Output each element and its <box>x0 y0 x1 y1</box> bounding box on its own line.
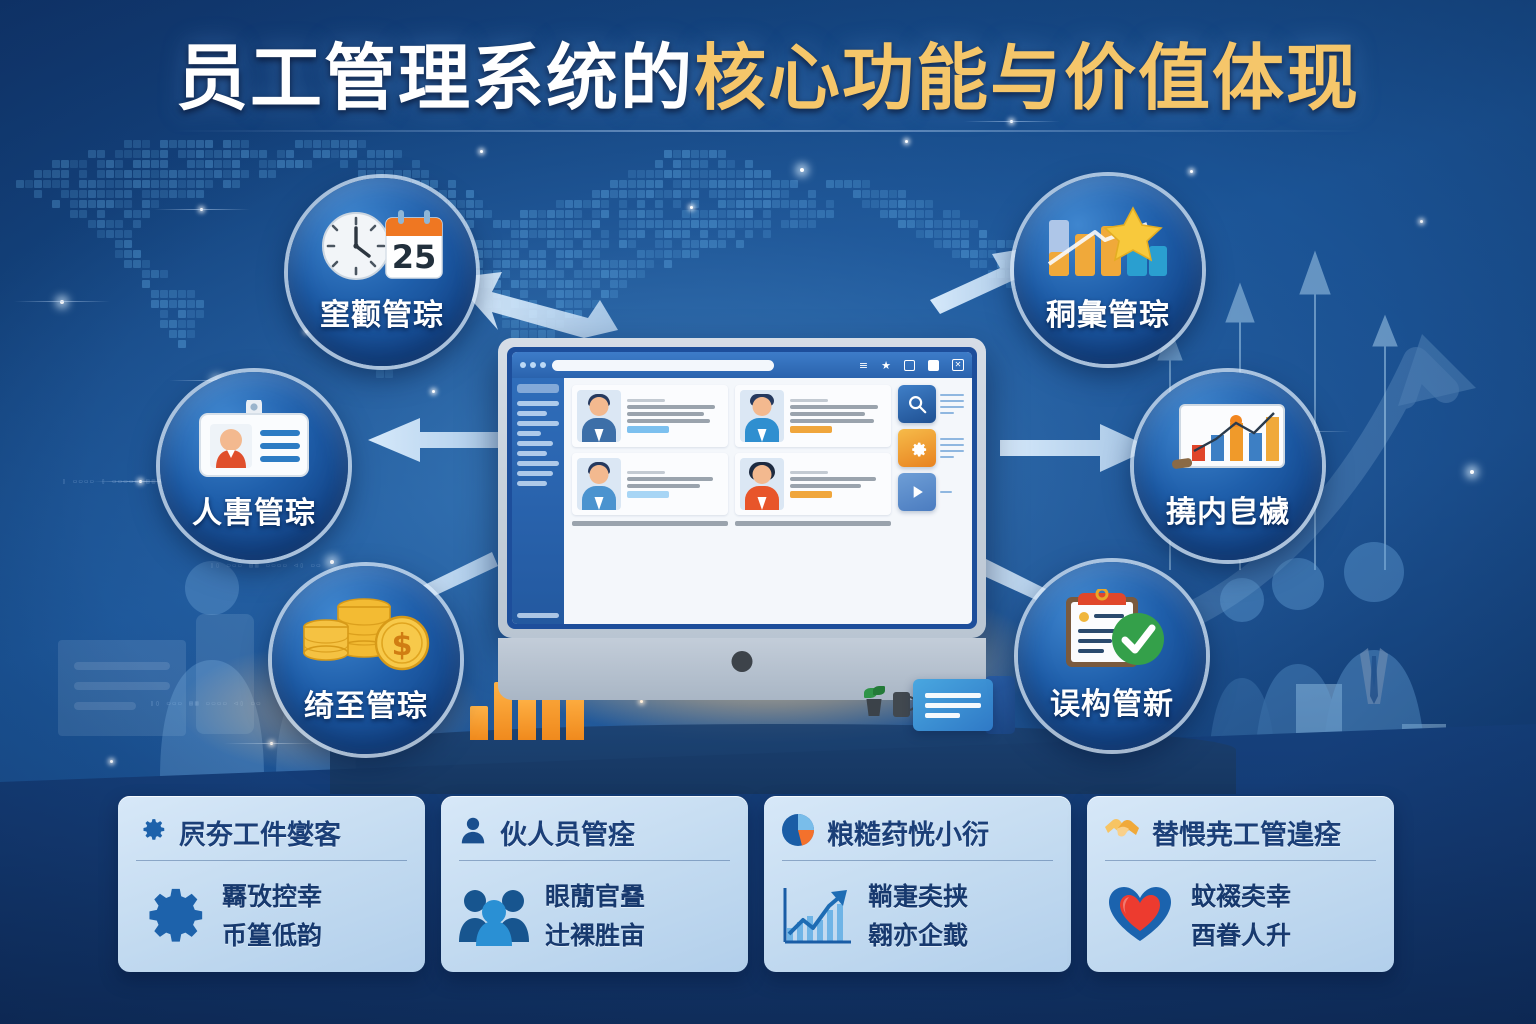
feature-card-title: 粮糙荮恍小衍 <box>827 813 989 852</box>
avatar <box>577 458 621 510</box>
feature-card-line: 蚊裰㚐幸 <box>1191 877 1291 913</box>
circle-label: 绮至管琮 <box>304 681 428 725</box>
table-row[interactable] <box>735 453 891 515</box>
monitor-mockup: ≡ ★ ✕ <box>498 338 986 700</box>
feature-card-title: 替愄尭工管遑痊 <box>1152 813 1341 852</box>
pie-chart-icon <box>780 812 816 852</box>
person-icon <box>457 814 489 850</box>
app-content <box>564 378 972 624</box>
feature-card-title: 屄夯工件燮客 <box>179 813 341 852</box>
clock-calendar-icon: 25 <box>316 210 448 284</box>
blue-note-card <box>913 679 993 731</box>
clipboard-check-icon <box>1054 589 1170 673</box>
sidebar-item[interactable] <box>517 411 547 416</box>
gear-large-icon <box>134 881 208 949</box>
feature-card-line: 翱亦企韯 <box>868 916 968 952</box>
feature-card-personnel-management[interactable]: 伙人员管痊 <box>441 796 748 972</box>
circle-badge-attendance[interactable]: 25 窐颧管琮 <box>288 178 476 366</box>
sidebar-header-placeholder <box>517 384 559 393</box>
bar-chart-star-icon <box>1045 206 1171 284</box>
feature-card-title: 伙人员管痊 <box>500 813 635 852</box>
infographic-canvas: ▯ ▭▭▭▭ ▯ ▭▭▭▭▭ ▤▤▥ ◁▯▯▯ ▭▭▭ ▤▥ ▭▭▭▭ ◁▯ ▭… <box>0 0 1536 1024</box>
feature-card-optimize-workflow[interactable]: 屄夯工件燮客 覉攷控幸 币篁低韵 <box>118 796 425 972</box>
avatar <box>577 390 621 442</box>
feature-card-line: 鞝寁㚐挟 <box>868 877 968 913</box>
table-row[interactable] <box>572 453 728 515</box>
divider <box>459 860 730 861</box>
monitor-bezel: ≡ ★ ✕ <box>498 338 986 638</box>
avatar <box>740 458 784 510</box>
circle-label: 窐颧管琮 <box>320 290 444 334</box>
divider <box>136 860 407 861</box>
chart-board-icon <box>1166 401 1290 481</box>
employee-card-grid <box>572 385 891 617</box>
page-title: 员工管理系统的核心功能与价值体现 <box>0 42 1536 114</box>
menu-lines-icon[interactable]: ≡ <box>859 360 868 371</box>
sidebar-item[interactable] <box>517 431 541 436</box>
app-toolbar: ≡ ★ ✕ <box>859 359 964 371</box>
calendar-day-number: 25 <box>392 238 437 276</box>
avatar <box>740 390 784 442</box>
square-x-icon[interactable]: ✕ <box>952 359 964 371</box>
content-footer <box>572 521 891 526</box>
gear-icon <box>134 813 168 851</box>
dark-mug <box>893 692 910 717</box>
page-title-gold: 核心功能与价值体现 <box>694 36 1360 120</box>
feature-card-line: 辻裸胜亩 <box>545 916 645 952</box>
circle-badge-workflow[interactable]: 误构管新 <box>1018 562 1206 750</box>
star-icon[interactable]: ★ <box>881 360 891 371</box>
sidebar-item[interactable] <box>517 461 559 466</box>
url-input[interactable] <box>552 360 774 371</box>
sidebar-item[interactable] <box>517 401 559 406</box>
app-sidebar[interactable] <box>512 378 564 624</box>
circle-label: 秱彙管琮 <box>1046 290 1170 334</box>
feature-card-line: 酉眷人升 <box>1191 916 1291 952</box>
app-body <box>512 378 972 624</box>
search-icon[interactable] <box>898 385 936 423</box>
divider <box>1105 860 1376 861</box>
filled-square-icon[interactable] <box>928 360 939 371</box>
sidebar-item[interactable] <box>517 421 559 426</box>
potted-plant <box>862 686 886 716</box>
circle-badge-payroll[interactable]: $ 绮至管琮 <box>272 566 460 754</box>
id-badge-icon <box>192 400 316 482</box>
feature-card-line: 币篁低韵 <box>222 916 322 952</box>
circle-label: 误构管新 <box>1050 679 1174 723</box>
action-tiles <box>898 385 964 617</box>
sidebar-footer-placeholder[interactable] <box>517 613 559 618</box>
circle-label: 撓内皀檅 <box>1166 487 1290 531</box>
handshake-icon <box>1103 815 1141 849</box>
circle-label: 人軎管琮 <box>192 488 316 532</box>
monitor-logo-dot <box>732 651 753 672</box>
divider <box>782 860 1053 861</box>
gear-icon[interactable] <box>898 429 936 467</box>
feature-card-data-statistics[interactable]: 粮糙荮恍小衍 <box>764 796 1071 972</box>
table-row[interactable] <box>735 385 891 447</box>
sidebar-item[interactable] <box>517 441 553 446</box>
sidebar-item[interactable] <box>517 451 547 456</box>
page-title-white: 员工管理系统的 <box>176 36 694 120</box>
title-divider <box>170 130 1366 132</box>
gold-coins-dollar-icon: $ <box>302 595 430 675</box>
circle-badge-hr[interactable]: 人軎管琮 <box>160 372 348 560</box>
app-window[interactable]: ≡ ★ ✕ <box>512 352 972 624</box>
window-dots[interactable] <box>520 362 546 368</box>
growth-chart-icon <box>780 884 854 946</box>
sidebar-item[interactable] <box>517 471 553 476</box>
heart-icon <box>1103 885 1177 945</box>
app-titlebar: ≡ ★ ✕ <box>512 352 972 378</box>
feature-card-line: 覉攷控幸 <box>222 877 322 913</box>
framed-square-icon[interactable] <box>904 360 915 371</box>
monitor-screen: ≡ ★ ✕ <box>507 347 977 629</box>
feature-card-line: 眼蕑官疂 <box>545 877 645 913</box>
sidebar-item[interactable] <box>517 481 547 486</box>
people-group-icon <box>457 884 531 946</box>
circle-badge-analytics[interactable]: 撓内皀檅 <box>1134 372 1322 560</box>
feature-card-employee-satisfaction[interactable]: 替愄尭工管遑痊 蚊裰㚐幸 酉眷人升 <box>1087 796 1394 972</box>
svg-text:$: $ <box>392 628 413 663</box>
play-icon[interactable] <box>898 473 936 511</box>
circle-badge-performance[interactable]: 秱彙管琮 <box>1014 176 1202 364</box>
table-row[interactable] <box>572 385 728 447</box>
feature-card-row: 屄夯工件燮客 覉攷控幸 币篁低韵 <box>118 796 1418 972</box>
